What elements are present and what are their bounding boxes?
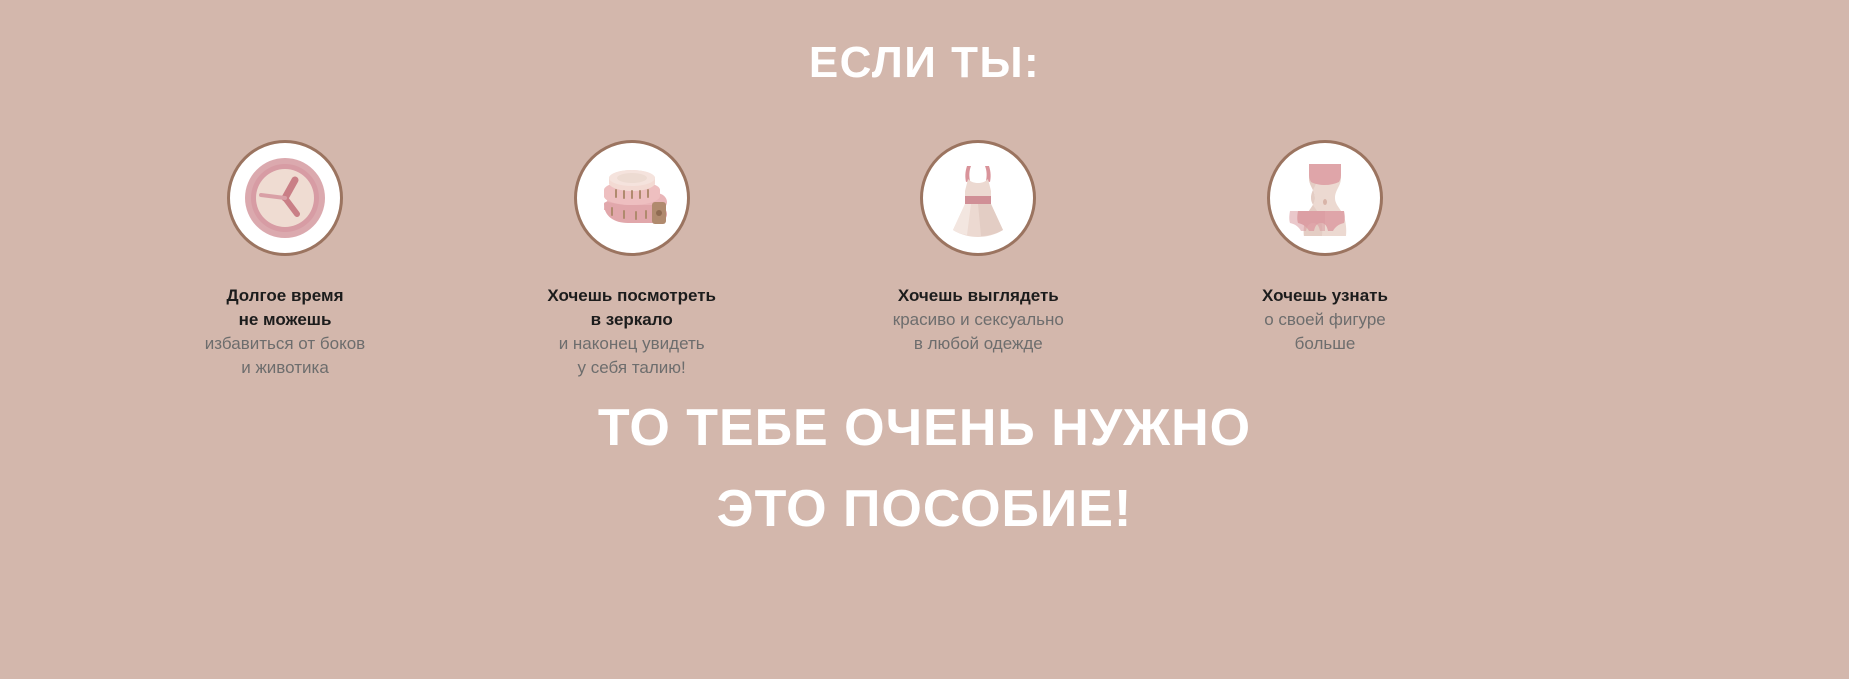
measuring-tape-icon — [574, 140, 690, 256]
caption-soft-line: о своей фигуре — [1262, 308, 1388, 332]
caption-soft-line: больше — [1262, 332, 1388, 356]
feature-caption: Хочешь посмотреть в зеркало и наконец ув… — [547, 284, 716, 381]
caption-strong-line: не можешь — [205, 308, 365, 332]
dress-icon — [920, 140, 1036, 256]
feature-caption: Долгое время не можешь избавиться от бок… — [205, 284, 365, 381]
caption-strong-line: Хочешь узнать — [1262, 284, 1388, 308]
caption-strong-line: Хочешь посмотреть — [547, 284, 716, 308]
page-title: ЕСЛИ ТЫ: — [0, 40, 1849, 86]
caption-soft-line: красиво и сексуально — [893, 308, 1064, 332]
feature-caption: Хочешь узнать о своей фигуре больше — [1262, 284, 1388, 356]
promo-banner: ЕСЛИ ТЫ: Долгое время не можешь — [0, 0, 1849, 679]
feature-item-clock: Долгое время не можешь избавиться от бок… — [160, 140, 410, 381]
headline-line-1: ТО ТЕБЕ ОЧЕНЬ НУЖНО — [0, 388, 1849, 469]
caption-soft-line: и наконец увидеть — [547, 332, 716, 356]
caption-soft-line: избавиться от боков — [205, 332, 365, 356]
caption-soft-line: и животика — [205, 356, 365, 380]
caption-soft-line: у себя талию! — [547, 356, 716, 380]
call-to-action-headline: ТО ТЕБЕ ОЧЕНЬ НУЖНО ЭТО ПОСОБИЕ! — [0, 388, 1849, 549]
female-waist-icon — [1267, 140, 1383, 256]
feature-item-measuring-tape: Хочешь посмотреть в зеркало и наконец ув… — [507, 140, 757, 381]
caption-soft-line: в любой одежде — [893, 332, 1064, 356]
caption-strong-line: в зеркало — [547, 308, 716, 332]
feature-item-dress: Хочешь выглядеть красиво и сексуально в … — [853, 140, 1103, 356]
feature-item-female-waist: Хочешь узнать о своей фигуре больше — [1200, 140, 1450, 356]
headline-line-2: ЭТО ПОСОБИЕ! — [0, 469, 1849, 550]
feature-caption: Хочешь выглядеть красиво и сексуально в … — [893, 284, 1064, 356]
clock-icon — [227, 140, 343, 256]
caption-strong-line: Хочешь выглядеть — [893, 284, 1064, 308]
feature-list: Долгое время не можешь избавиться от бок… — [160, 140, 1450, 381]
caption-strong-line: Долгое время — [205, 284, 365, 308]
